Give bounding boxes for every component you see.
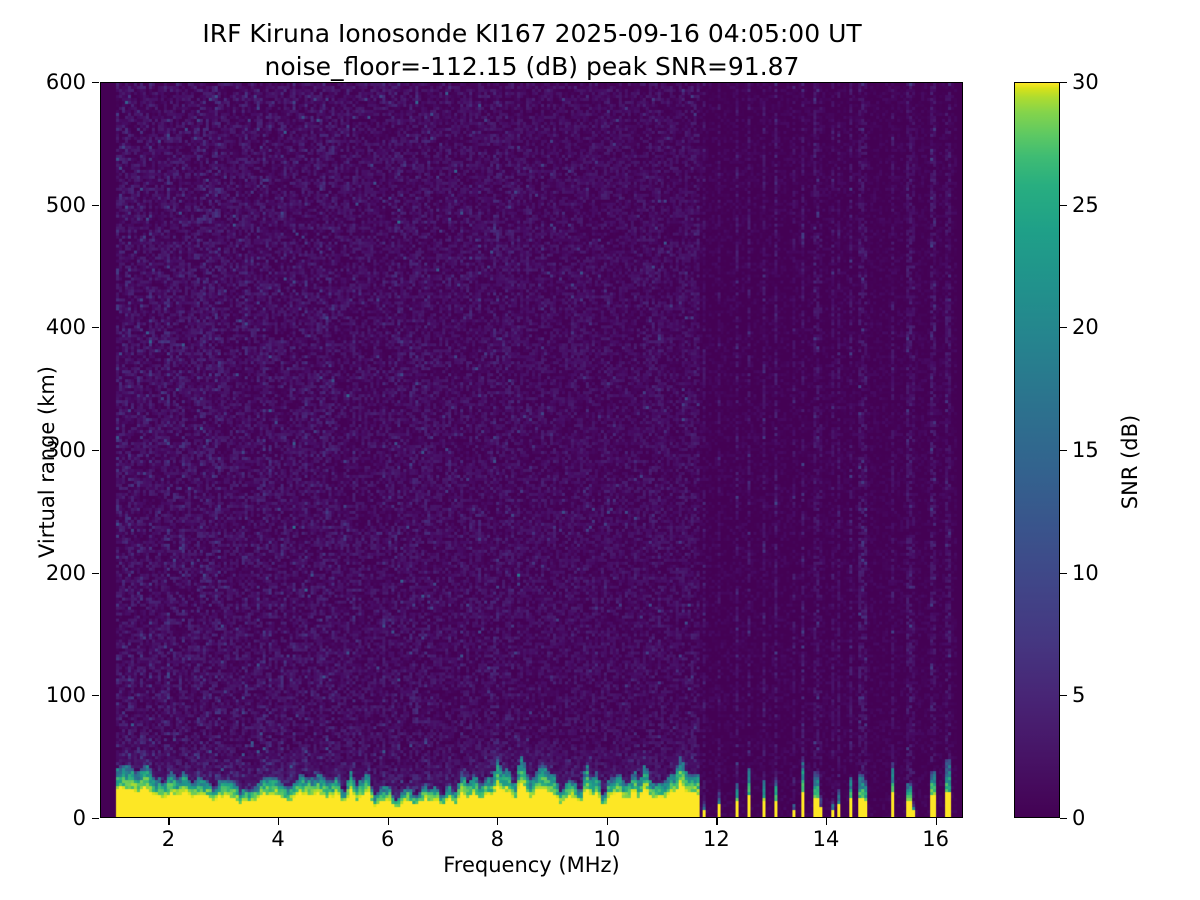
y-tick-mark bbox=[92, 695, 99, 696]
colorbar-tick-mark bbox=[1060, 450, 1067, 451]
colorbar-tick-label: 5 bbox=[1072, 683, 1085, 707]
colorbar-gradient bbox=[1014, 82, 1060, 818]
x-tick-label: 14 bbox=[791, 827, 861, 851]
x-tick-mark bbox=[497, 818, 498, 825]
x-tick-label: 2 bbox=[133, 827, 203, 851]
x-tick-label: 16 bbox=[901, 827, 971, 851]
x-tick-mark bbox=[936, 818, 937, 825]
y-tick-label: 500 bbox=[8, 193, 86, 217]
y-tick-mark bbox=[92, 818, 99, 819]
y-tick-label: 0 bbox=[8, 806, 86, 830]
x-tick-label: 12 bbox=[681, 827, 751, 851]
y-tick-label: 300 bbox=[8, 438, 86, 462]
colorbar-label: SNR (dB) bbox=[1118, 332, 1142, 592]
x-axis-label: Frequency (MHz) bbox=[100, 853, 963, 877]
y-tick-mark bbox=[92, 82, 99, 83]
colorbar-tick-label: 30 bbox=[1072, 70, 1099, 94]
colorbar-tick-label: 20 bbox=[1072, 315, 1099, 339]
heatmap-plot-area[interactable] bbox=[100, 82, 963, 818]
x-tick-label: 6 bbox=[353, 827, 423, 851]
x-tick-label: 4 bbox=[243, 827, 313, 851]
ionogram-figure: IRF Kiruna Ionosonde KI167 2025-09-16 04… bbox=[0, 0, 1200, 900]
y-tick-mark bbox=[92, 573, 99, 574]
x-tick-mark bbox=[826, 818, 827, 825]
colorbar-tick-label: 15 bbox=[1072, 438, 1099, 462]
y-tick-label: 600 bbox=[8, 70, 86, 94]
x-tick-mark bbox=[168, 818, 169, 825]
y-tick-mark bbox=[92, 450, 99, 451]
x-tick-label: 8 bbox=[462, 827, 532, 851]
y-tick-mark bbox=[92, 205, 99, 206]
y-tick-label: 200 bbox=[8, 561, 86, 585]
colorbar-tick-label: 0 bbox=[1072, 806, 1085, 830]
y-tick-label: 400 bbox=[8, 315, 86, 339]
ionogram-heatmap-canvas bbox=[101, 83, 962, 817]
colorbar-tick-label: 25 bbox=[1072, 193, 1099, 217]
x-tick-label: 10 bbox=[572, 827, 642, 851]
colorbar-tick-mark bbox=[1060, 695, 1067, 696]
x-tick-mark bbox=[388, 818, 389, 825]
x-tick-mark bbox=[278, 818, 279, 825]
colorbar-tick-label: 10 bbox=[1072, 561, 1099, 585]
colorbar-tick-mark bbox=[1060, 82, 1067, 83]
colorbar-tick-mark bbox=[1060, 205, 1067, 206]
chart-title: IRF Kiruna Ionosonde KI167 2025-09-16 04… bbox=[0, 18, 1064, 83]
y-tick-mark bbox=[92, 327, 99, 328]
colorbar-tick-mark bbox=[1060, 573, 1067, 574]
colorbar-tick-mark bbox=[1060, 327, 1067, 328]
x-tick-mark bbox=[716, 818, 717, 825]
y-tick-label: 100 bbox=[8, 683, 86, 707]
x-tick-mark bbox=[607, 818, 608, 825]
colorbar-tick-mark bbox=[1060, 818, 1067, 819]
